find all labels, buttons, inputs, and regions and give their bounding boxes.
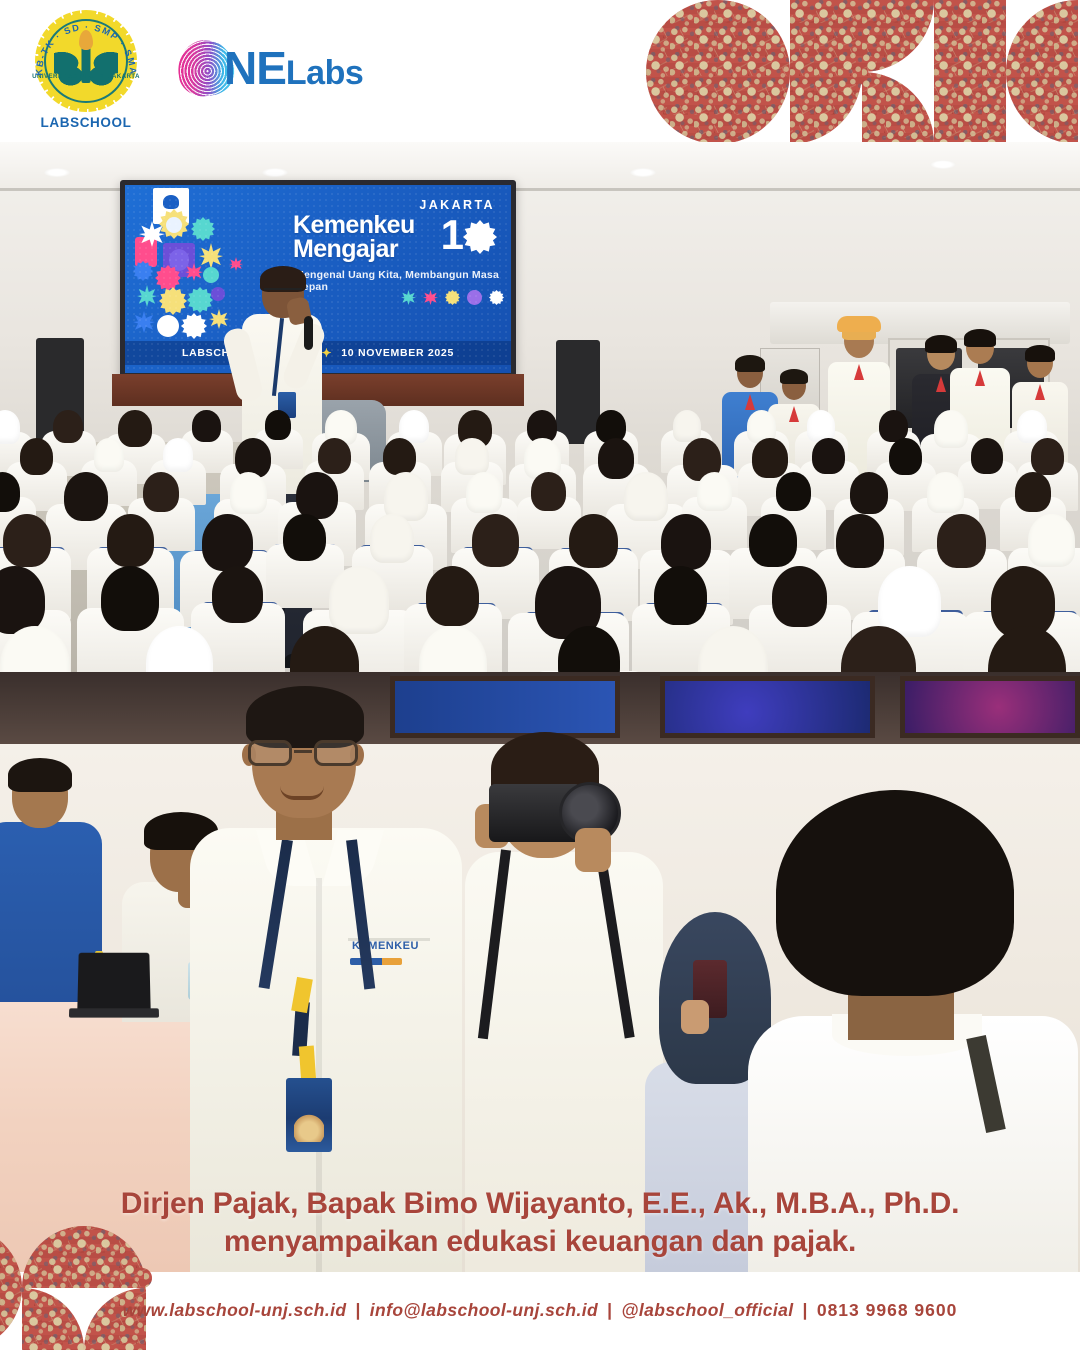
audience-head: [937, 514, 986, 568]
slide-city-label: JAKARTA: [419, 198, 495, 212]
onelabs-ne-text: NE: [224, 42, 286, 94]
audience-head: [53, 410, 83, 443]
slide-shape-11: [203, 267, 219, 283]
batik-tile: [934, 72, 1006, 144]
microphone-icon: [304, 316, 313, 350]
person-hair: [780, 369, 808, 384]
audience-head: [265, 410, 291, 440]
slide-shape-1: [139, 221, 165, 247]
onelabs-logo: NELabs: [178, 38, 373, 100]
audience-head-hijab: [927, 472, 963, 513]
slide-shape-16: [157, 315, 179, 337]
footer-separator: |: [598, 1300, 621, 1320]
poster-canvas: UNIVERSITAS NEGERI JAKARTA KB-TK · SD · …: [0, 0, 1080, 1350]
audience-head: [971, 438, 1003, 474]
audience-head: [296, 472, 338, 519]
photographer-hand-right: [575, 828, 611, 872]
ceiling-light: [630, 168, 656, 177]
slide-title-line-1: Kemenkeu: [293, 213, 415, 237]
audience-head: [101, 566, 159, 631]
logo-arc-text-svg: KB-TK · SD · SMP · SMA: [30, 12, 142, 124]
audience-head-hijab: [329, 566, 390, 634]
slide-row-icon-0: [401, 290, 416, 305]
hijab-student-hand: [681, 1000, 709, 1034]
audience-head: [426, 566, 479, 626]
batik-texture: [934, 72, 1006, 144]
glasses-lens-left: [248, 740, 292, 766]
labschool-unj-logo: UNIVERSITAS NEGERI JAKARTA KB-TK · SD · …: [30, 12, 142, 130]
floor-speaker: [556, 340, 600, 444]
batik-tile: [718, 72, 790, 144]
batik-texture: [1006, 72, 1078, 144]
audience-head-hijab: [934, 410, 968, 448]
audience-head: [64, 472, 108, 521]
main-hair: [246, 686, 364, 748]
audience-head: [212, 566, 263, 623]
audience-head: [654, 566, 707, 625]
slide-shape-5: [163, 243, 195, 277]
audience-head-hijab: [230, 472, 267, 514]
slide-shape-6: [169, 249, 189, 271]
slide-row-icon-2: [445, 290, 460, 305]
batik-texture: [718, 72, 790, 144]
audience-head: [1031, 438, 1064, 475]
batik-texture: [1006, 0, 1078, 72]
slide-shape-13: [159, 287, 187, 315]
event-caption: Dirjen Pajak, Bapak Bimo Wijayanto, E.E.…: [0, 1185, 1080, 1262]
batik-tile: [1006, 0, 1078, 72]
batik-texture: [842, 60, 868, 86]
glasses-bridge: [294, 750, 312, 753]
audience-head-hijab: [466, 472, 502, 513]
batik-texture: [646, 0, 718, 72]
batik-center-dot: [842, 60, 868, 86]
slide-title-line-2: Mengajar: [293, 237, 415, 261]
audience-head: [118, 410, 151, 447]
slide-footer-date: 10 NOVEMBER 2025: [341, 347, 454, 359]
screen-glow: [905, 681, 1075, 733]
footer-email[interactable]: info@labschool-unj.sch.id: [370, 1300, 598, 1320]
screen-glow: [665, 681, 870, 733]
audience-head-hijab: [455, 438, 488, 475]
audience-head-hijab: [370, 514, 414, 563]
kemenkeu-logo-bar: [350, 958, 402, 965]
slide-shape-15: [133, 311, 155, 333]
svg-text:KB-TK · SD · SMP · SMA: KB-TK · SD · SMP · SMA: [34, 22, 138, 76]
person-hair: [1025, 345, 1055, 362]
slide-shape-2: [159, 209, 189, 239]
batik-tile: [862, 0, 934, 72]
footer-separator: |: [346, 1300, 369, 1320]
bucket-hat: [837, 316, 881, 332]
main-id-badge: [286, 1078, 332, 1152]
slide-shape-7: [199, 243, 223, 269]
slide-shape-20: [229, 257, 243, 271]
ceiling-light: [262, 168, 288, 177]
batik-texture: [718, 0, 790, 72]
audience-head: [283, 514, 325, 561]
audience-head: [383, 438, 416, 475]
audience-head: [889, 438, 922, 475]
slide-shape-9: [155, 265, 181, 291]
batik-texture: [132, 1268, 152, 1288]
footer-social-handle[interactable]: @labschool_official: [621, 1300, 793, 1320]
slide-shape-3: [166, 217, 182, 233]
slide-row-icon-4: [489, 290, 504, 305]
slide-icon-row: [401, 289, 511, 307]
audience-head: [318, 438, 350, 474]
audience-head: [661, 514, 711, 570]
slide-title: Kemenkeu Mengajar: [293, 213, 415, 261]
slide-row-icon-3: [467, 290, 482, 305]
batik-texture: [862, 0, 934, 72]
window-screen-mid: [660, 676, 875, 738]
audience-head: [752, 438, 787, 478]
audience-head: [812, 438, 844, 474]
contact-footer: www.labschool-unj.sch.id|info@labschool-…: [0, 1300, 1080, 1321]
audience-head: [202, 514, 253, 571]
slide-shape-17: [181, 313, 207, 339]
audience-head: [531, 472, 566, 511]
batik-tile: [646, 72, 718, 144]
audience-head: [20, 438, 53, 475]
audience-head: [598, 438, 635, 479]
kemenkeu-crest-icon: [153, 188, 189, 224]
audience-head: [192, 410, 220, 442]
slide-shape-8: [133, 261, 153, 281]
footer-separator: |: [794, 1300, 817, 1320]
audience-head: [107, 514, 154, 567]
slide-shape-12: [137, 285, 157, 307]
footer-website[interactable]: www.labschool-unj.sch.id: [123, 1300, 347, 1320]
slide-number-digit: 1: [441, 211, 462, 258]
batik-corner-dot: [132, 1268, 152, 1288]
laptop: [77, 953, 150, 1011]
slide-shape-10: [185, 263, 203, 281]
ceiling-light: [930, 160, 956, 169]
audience-head-hijab: [697, 472, 732, 511]
glasses-lens-right: [314, 740, 358, 766]
footer-phone[interactable]: 0813 9968 9600: [817, 1300, 958, 1320]
onelabs-labs-text: Labs: [286, 54, 363, 92]
batik-corner-pattern: [646, 0, 1080, 143]
slide-shape-14: [187, 287, 213, 313]
slide-zero-flower-icon: [463, 220, 497, 254]
lanyard-yellow-accent: [299, 1046, 316, 1083]
back-student-hair: [776, 790, 1014, 996]
batik-tile: [1006, 72, 1078, 144]
slide-shape-18: [209, 309, 229, 329]
photo-assembly-hall-speaker: JAKARTA 1 Kemenkeu Mengajar Mengenal Uan…: [0, 142, 1080, 672]
audience-head: [143, 472, 179, 512]
slide-number-ten: 1: [441, 214, 497, 256]
batik-texture: [646, 72, 718, 144]
slide-row-icon-1: [423, 290, 438, 305]
batik-texture: [862, 72, 934, 144]
audience-head: [569, 514, 617, 568]
blue-shirt-hair: [8, 758, 72, 792]
audience-head: [3, 514, 51, 567]
batik-tile: [934, 0, 1006, 72]
audience-head-hijab: [673, 410, 701, 442]
slide-shape-0: [135, 237, 157, 267]
audience-head-hijab: [1028, 514, 1075, 567]
ceiling-light: [44, 168, 70, 177]
audience-head: [836, 514, 884, 568]
poster-header: UNIVERSITAS NEGERI JAKARTA KB-TK · SD · …: [0, 0, 1080, 142]
onelabs-wordmark: NELabs: [224, 38, 363, 103]
speaker-glasses: [264, 288, 302, 298]
caption-line-1: Dirjen Pajak, Bapak Bimo Wijayanto, E.E.…: [0, 1185, 1080, 1223]
audience-head-hijab: [94, 438, 125, 472]
person-hair: [735, 355, 765, 372]
batik-tile: [862, 72, 934, 144]
window-screen-right: [900, 676, 1080, 738]
batik-tile: [718, 0, 790, 72]
audience-head-hijab: [624, 472, 668, 521]
batik-tile: [646, 0, 718, 72]
logo-wordmark: LABSCHOOL: [30, 115, 142, 130]
person-hair: [964, 329, 996, 347]
slide-shape-19: [211, 287, 225, 301]
photo-dirjen-pajak-portrait: KEMENKEU: [0, 672, 1080, 1272]
audience-head: [772, 566, 827, 627]
audience-head: [850, 472, 888, 514]
batik-texture: [934, 0, 1006, 72]
audience-head: [776, 472, 811, 511]
audience-head: [749, 514, 796, 567]
audience-head-hijab: [163, 438, 193, 472]
slide-shape-4: [191, 217, 215, 241]
main-glasses-icon: [248, 740, 362, 766]
audience-head: [472, 514, 519, 567]
caption-line-2: menyampaikan edukasi keuangan dan pajak.: [0, 1223, 1080, 1261]
audience-head: [1015, 472, 1050, 512]
logo-arc-label: KB-TK · SD · SMP · SMA: [34, 22, 138, 76]
